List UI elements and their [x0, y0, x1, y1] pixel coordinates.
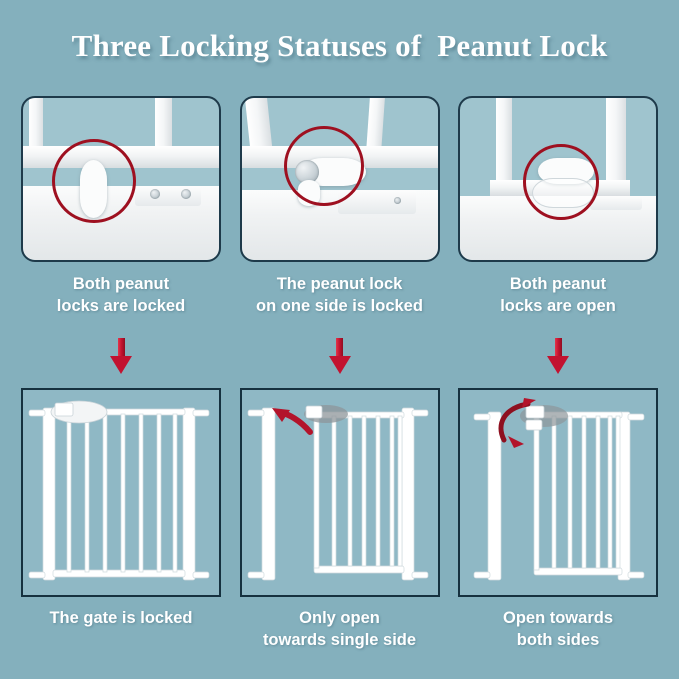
arrow-cell-2 [240, 338, 440, 374]
highlight-circle-icon [523, 144, 599, 220]
arrow-head [547, 356, 569, 374]
arrow-cell-1 [21, 338, 221, 374]
gate-photo-both-sides [458, 388, 658, 597]
lock-status-item-1: Both peanut locks are locked [21, 96, 221, 318]
latch-block [135, 186, 201, 206]
arrow-shaft [336, 338, 343, 358]
gate-post-right [606, 98, 626, 190]
arrow-row [21, 338, 658, 374]
gate-status-item-3: Open towards both sides [458, 388, 658, 652]
photo-content [460, 98, 656, 260]
lock-photo-one-side-locked [240, 96, 440, 262]
gate-photo-single-side [240, 388, 440, 597]
arrow-down-icon [110, 338, 132, 374]
arrow-head [329, 356, 351, 374]
arrow-shaft [118, 338, 125, 358]
latch-screw [394, 197, 401, 204]
gate-post-left [29, 98, 43, 148]
lock-caption-1: Both peanut locks are locked [21, 274, 221, 318]
photo-content [242, 98, 438, 260]
page-title: Three Locking Statuses of Peanut Lock [0, 28, 679, 64]
latch-block [590, 196, 642, 210]
highlight-circle-icon [284, 126, 364, 206]
gate-photo-locked [21, 388, 221, 597]
lock-status-row: Both peanut locks are locked The peanut … [21, 96, 658, 318]
lock-status-item-3: Both peanut locks are open [458, 96, 658, 318]
lock-photo-both-locked [21, 96, 221, 262]
lock-caption-2: The peanut lock on one side is locked [240, 274, 440, 318]
gate-illustration-both [460, 390, 656, 595]
gate-illustration-closed [23, 390, 219, 595]
arrow-head [110, 356, 132, 374]
gate-handle [520, 405, 568, 430]
lock-status-item-2: The peanut lock on one side is locked [240, 96, 440, 318]
photo-content [23, 98, 219, 260]
gate-status-item-1: The gate is locked [21, 388, 221, 652]
swing-arrow-icon [272, 408, 310, 432]
gate-caption-1: The gate is locked [21, 608, 221, 630]
lock-photo-both-open [458, 96, 658, 262]
gate-status-item-2: Only open towards single side [240, 388, 440, 652]
gate-handle [51, 401, 107, 423]
gate-caption-2: Only open towards single side [240, 608, 440, 652]
gate-post-vertical [155, 98, 172, 152]
gate-handle [304, 405, 348, 423]
arrow-down-icon [329, 338, 351, 374]
lock-caption-3: Both peanut locks are open [458, 274, 658, 318]
arrow-cell-3 [458, 338, 658, 374]
gate-caption-3: Open towards both sides [458, 608, 658, 652]
latch-screw-a [150, 189, 160, 199]
gate-illustration-single [242, 390, 438, 595]
gate-status-row: The gate is locked [21, 388, 658, 652]
highlight-circle-icon [52, 139, 136, 223]
latch-screw-b [181, 189, 191, 199]
arrow-shaft [555, 338, 562, 358]
arrow-down-icon [547, 338, 569, 374]
